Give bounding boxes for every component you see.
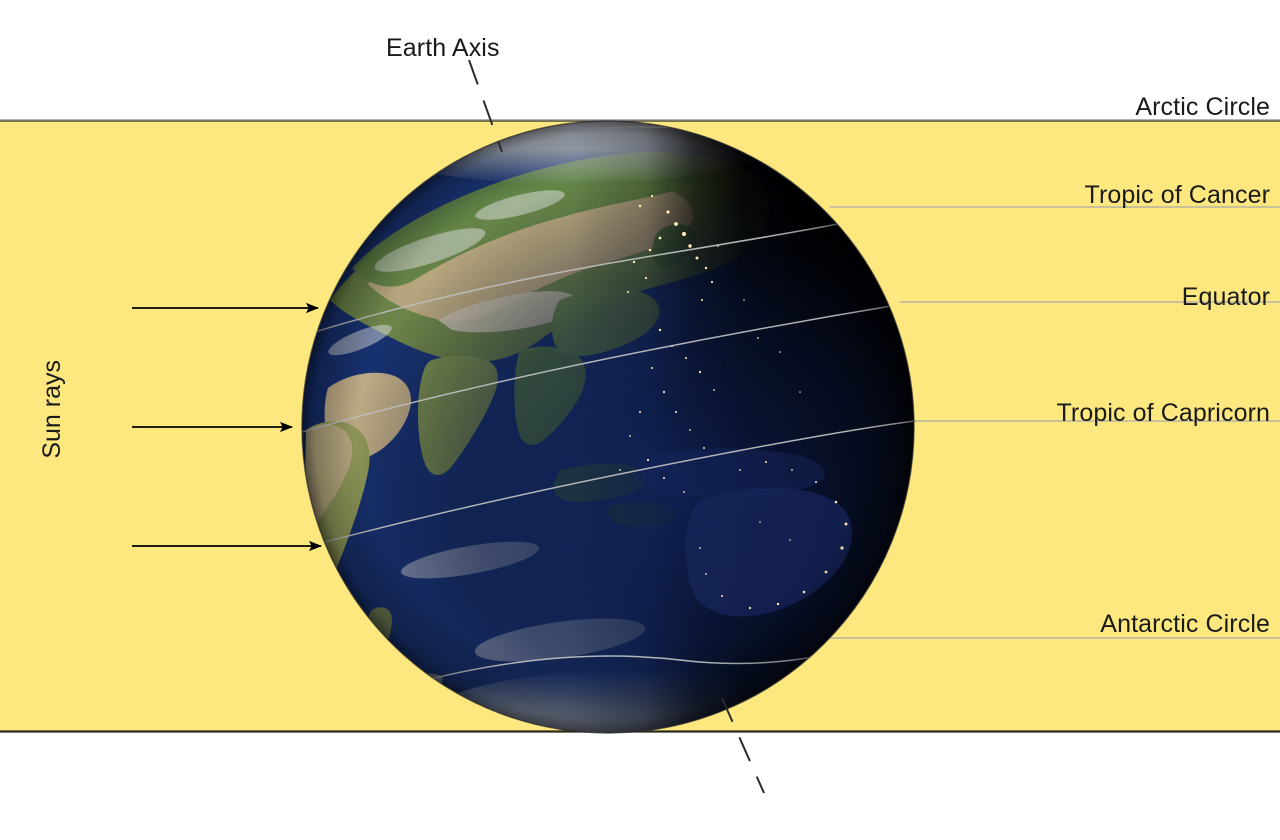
earth-axis-label: Earth Axis	[386, 34, 500, 63]
label-antarctic-circle: Antarctic Circle	[1100, 610, 1270, 639]
label-tropic-of-capricorn: Tropic of Capricorn	[1056, 399, 1270, 428]
label-equator: Equator	[1182, 283, 1270, 312]
sun-rays-label: Sun rays	[38, 360, 67, 459]
label-tropic-of-cancer: Tropic of Cancer	[1085, 181, 1270, 210]
label-arctic-circle: Arctic Circle	[1135, 93, 1270, 122]
